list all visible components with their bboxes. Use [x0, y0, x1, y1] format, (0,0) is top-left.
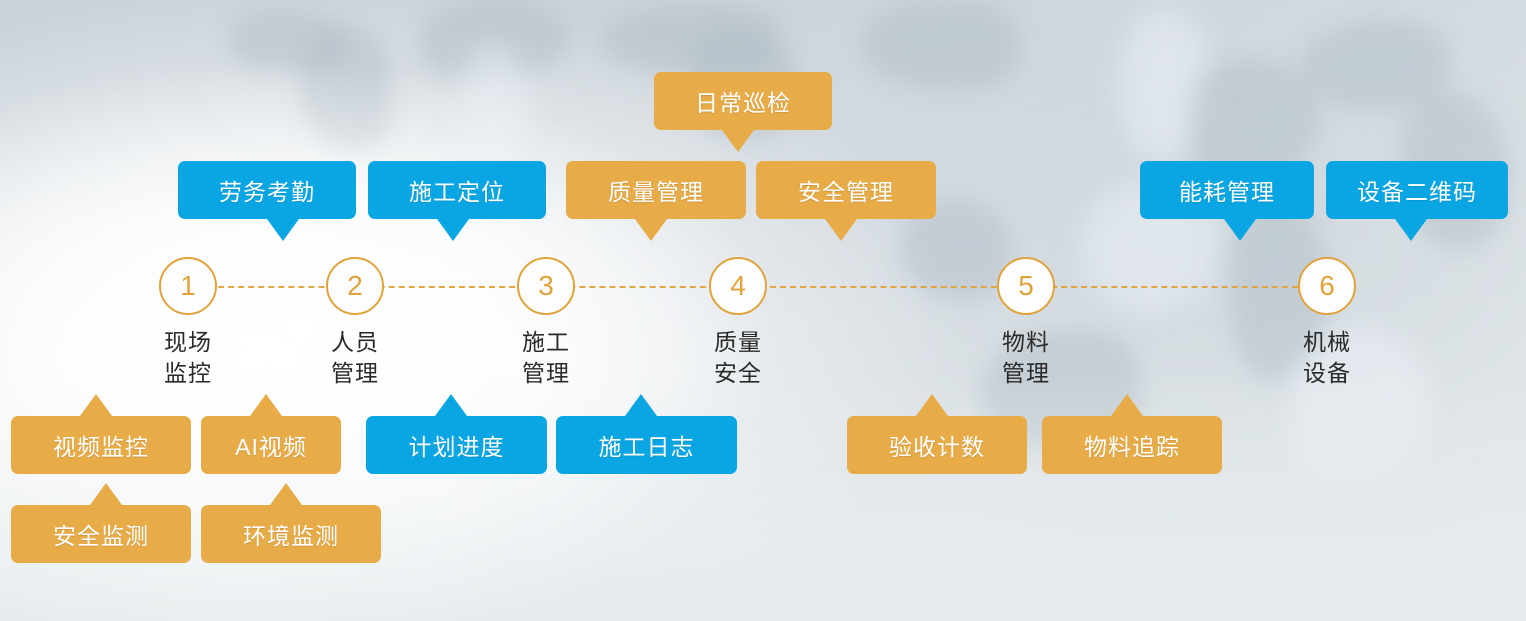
infographic-canvas: 1现场 监控2人员 管理3施工 管理4质量 安全5物料 管理6机械 设备 日常巡…: [0, 0, 1526, 621]
callout-box[interactable]: 安全管理: [756, 161, 936, 219]
callout-tail: [80, 394, 112, 416]
callout-tail: [635, 219, 667, 241]
callout-box[interactable]: 视频监控: [11, 416, 191, 474]
callout-box[interactable]: 质量管理: [566, 161, 746, 219]
node-label: 现场 监控: [128, 327, 248, 389]
callout-box[interactable]: 施工定位: [368, 161, 546, 219]
callout-box[interactable]: 环境监测: [201, 505, 381, 563]
node-label: 物料 管理: [966, 327, 1086, 389]
callout-label: 环境监测: [243, 517, 339, 551]
callout-tail: [1111, 394, 1143, 416]
map-shape: [1120, 10, 1210, 160]
callout-label: 视频监控: [53, 428, 149, 462]
callout-tail: [916, 394, 948, 416]
node-label: 施工 管理: [486, 327, 606, 389]
callout-label: 质量管理: [608, 173, 704, 207]
callout-tail: [435, 394, 467, 416]
timeline-node-6[interactable]: 6机械 设备: [1267, 257, 1387, 389]
callout-label: 计划进度: [409, 428, 505, 462]
callout-label: 安全管理: [798, 173, 894, 207]
callout-box[interactable]: 劳务考勤: [178, 161, 356, 219]
timeline-node-4[interactable]: 4质量 安全: [678, 257, 798, 389]
map-shape: [300, 30, 390, 150]
node-label: 人员 管理: [295, 327, 415, 389]
node-label: 机械 设备: [1267, 327, 1387, 389]
callout-label: 日常巡检: [695, 84, 791, 118]
callout-box[interactable]: 设备二维码: [1326, 161, 1508, 219]
map-shape: [420, 0, 570, 80]
callout-label: 验收计数: [889, 428, 985, 462]
callout-box[interactable]: 日常巡检: [654, 72, 832, 130]
map-shape: [460, 45, 530, 175]
callout-tail: [437, 219, 469, 241]
node-number-badge: 4: [709, 257, 767, 315]
timeline-node-2[interactable]: 2人员 管理: [295, 257, 415, 389]
callout-box[interactable]: AI视频: [201, 416, 341, 474]
callout-label: 设备二维码: [1357, 173, 1477, 207]
map-shape: [1300, 20, 1450, 110]
map-shape: [600, 5, 780, 75]
timeline-node-1[interactable]: 1现场 监控: [128, 257, 248, 389]
callout-box[interactable]: 能耗管理: [1140, 161, 1314, 219]
timeline-node-3[interactable]: 3施工 管理: [486, 257, 606, 389]
node-number-badge: 3: [517, 257, 575, 315]
node-label: 质量 安全: [678, 327, 798, 389]
callout-tail: [1395, 219, 1427, 241]
callout-label: 安全监测: [53, 517, 149, 551]
callout-label: 施工定位: [409, 173, 505, 207]
callout-box[interactable]: 验收计数: [847, 416, 1027, 474]
node-number-badge: 1: [159, 257, 217, 315]
callout-tail: [250, 394, 282, 416]
callout-tail: [90, 483, 122, 505]
node-number-badge: 5: [997, 257, 1055, 315]
callout-tail: [625, 394, 657, 416]
map-shape: [230, 10, 350, 70]
callout-box[interactable]: 物料追踪: [1042, 416, 1222, 474]
callout-tail: [1224, 219, 1256, 241]
callout-box[interactable]: 计划进度: [366, 416, 547, 474]
callout-label: 施工日志: [599, 428, 695, 462]
callout-tail: [825, 219, 857, 241]
callout-label: AI视频: [235, 428, 307, 462]
callout-tail: [722, 130, 754, 152]
node-number-badge: 6: [1298, 257, 1356, 315]
callout-tail: [270, 483, 302, 505]
callout-box[interactable]: 安全监测: [11, 505, 191, 563]
node-number-badge: 2: [326, 257, 384, 315]
map-shape: [860, 0, 1020, 90]
callout-label: 劳务考勤: [219, 173, 315, 207]
callout-box[interactable]: 施工日志: [556, 416, 737, 474]
callout-tail: [267, 219, 299, 241]
timeline-node-5[interactable]: 5物料 管理: [966, 257, 1086, 389]
callout-label: 能耗管理: [1179, 173, 1275, 207]
callout-label: 物料追踪: [1084, 428, 1180, 462]
